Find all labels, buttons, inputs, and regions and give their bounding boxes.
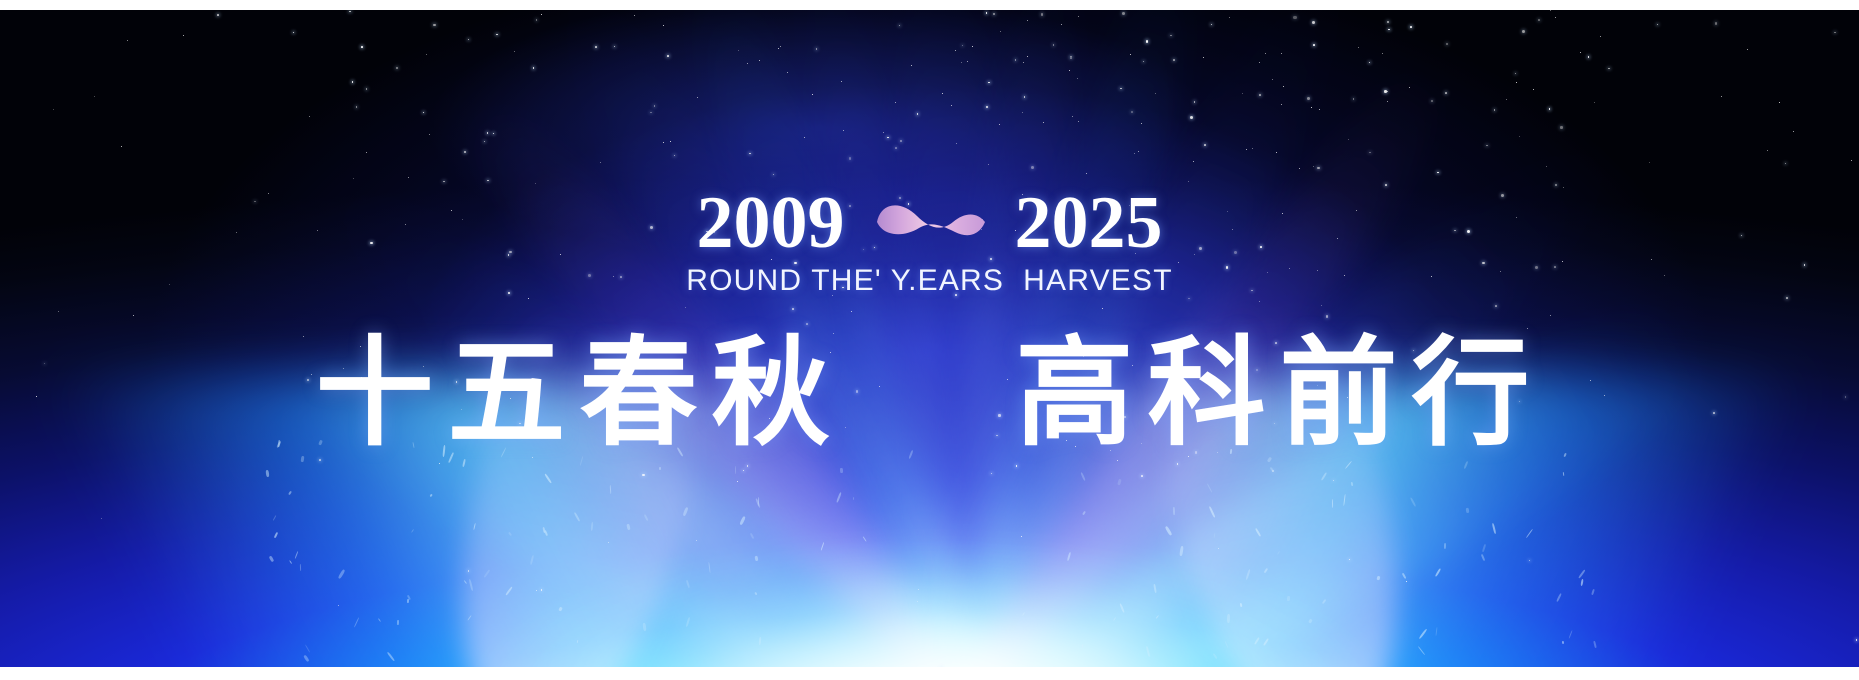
- slogan-right: 高科前行: [1016, 330, 1544, 457]
- wave-tilde-icon: [871, 188, 993, 258]
- year-end: 2025: [1015, 186, 1163, 260]
- slogan-left: 十五春秋: [315, 330, 843, 457]
- year-range: 2009 2025: [0, 186, 1859, 260]
- anniversary-banner: 2009 2025 ROUND THE' Y.EARS HARVEST 十五春秋: [0, 0, 1859, 680]
- slogan-row: 十五春秋 高科前行: [0, 330, 1859, 457]
- subtitle-text: ROUND THE' Y.EARS HARVEST: [0, 264, 1859, 298]
- bottom-white-edge: [0, 667, 1859, 680]
- banner-content: 2009 2025 ROUND THE' Y.EARS HARVEST 十五春秋: [0, 0, 1859, 680]
- year-start: 2009: [697, 186, 845, 260]
